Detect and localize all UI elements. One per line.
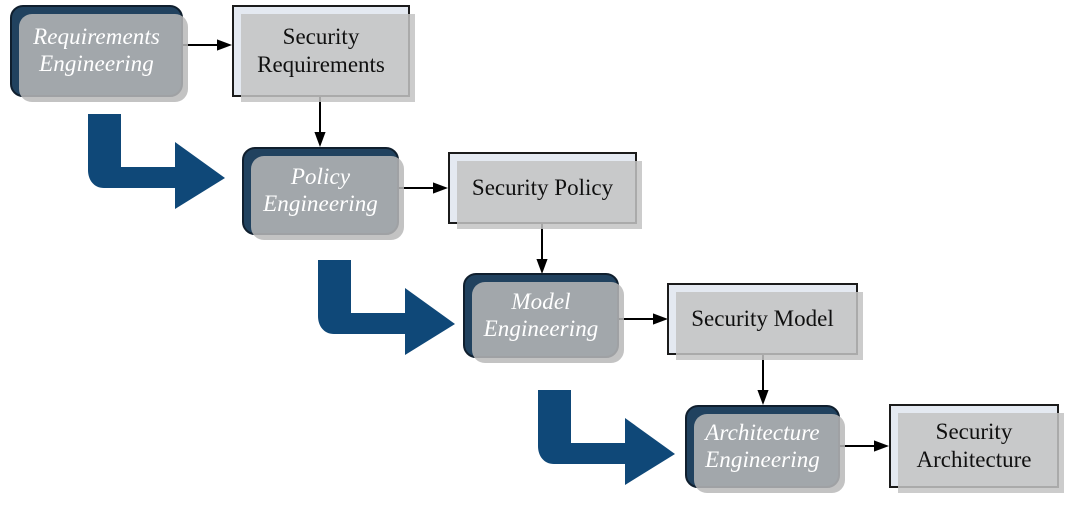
process-box-policy-engineering[interactable]: PolicyEngineering [242,147,399,235]
artifact-box-security-requirements[interactable]: SecurityRequirements [232,5,410,97]
process-label-policy-engineering: PolicyEngineering [257,164,384,218]
process-label-architecture-engineering: ArchitectureEngineering [699,420,826,474]
process-label-model-engineering: ModelEngineering [478,289,605,343]
arrow-security-requirements-to-policy-engineering [311,96,329,150]
curved-cascade-arrow-2 [308,258,458,358]
diagram-canvas: RequirementsEngineering SecurityRequirem… [0,0,1075,505]
artifact-box-security-policy[interactable]: Security Policy [448,152,637,224]
process-box-requirements-engineering[interactable]: RequirementsEngineering [10,5,183,97]
arrow-model-engineering-to-security-model [619,310,671,328]
artifact-label-security-requirements: SecurityRequirements [252,23,390,78]
process-label-requirements-engineering: RequirementsEngineering [27,24,166,78]
artifact-label-security-model: Security Model [686,305,838,333]
artifact-label-security-policy: Security Policy [467,174,618,202]
artifact-label-security-architecture: SecurityArchitecture [912,418,1037,473]
arrow-requirements-engineering-to-security-requirements [183,36,235,54]
process-box-architecture-engineering[interactable]: ArchitectureEngineering [685,405,840,488]
arrow-policy-engineering-to-security-policy [399,179,451,197]
curved-cascade-arrow-3 [528,388,678,488]
curved-cascade-arrow-1 [78,112,228,212]
artifact-box-security-model[interactable]: Security Model [667,283,858,355]
process-box-model-engineering[interactable]: ModelEngineering [463,273,619,358]
arrow-architecture-engineering-to-security-architecture [840,437,892,455]
artifact-box-security-architecture[interactable]: SecurityArchitecture [889,404,1059,488]
arrow-security-model-to-architecture-engineering [754,354,772,408]
arrow-security-policy-to-model-engineering [533,223,551,277]
